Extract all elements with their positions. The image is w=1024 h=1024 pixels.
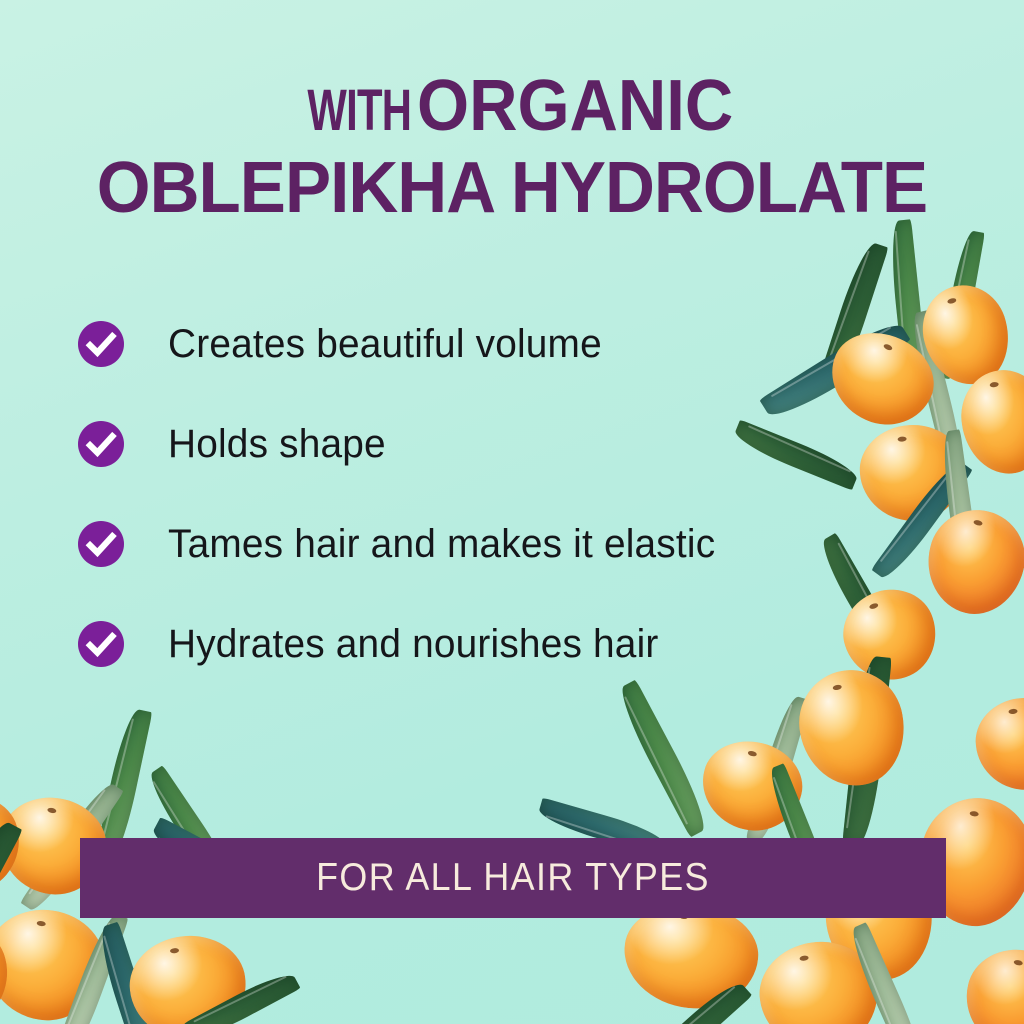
leaf-icon — [51, 911, 128, 1024]
list-item: Creates beautiful volume — [78, 294, 958, 394]
benefit-label: Hydrates and nourishes hair — [168, 622, 659, 667]
leaf-icon — [93, 922, 164, 1024]
berry-icon — [955, 365, 1024, 480]
leaf-icon — [613, 680, 713, 838]
benefit-label: Holds shape — [168, 422, 386, 467]
check-circle-icon — [78, 321, 124, 367]
headline-line-2: OBLEPIKHA HYDROLATE — [20, 154, 1003, 222]
berry-icon — [971, 693, 1024, 795]
banner-label: FOR ALL HAIR TYPES — [316, 856, 710, 900]
berry-icon — [0, 783, 31, 908]
page-title: WITH ORGANIC OBLEPIKHA HYDROLATE — [0, 72, 1024, 223]
benefits-list: Creates beautiful volume Holds shape Tam… — [78, 294, 958, 694]
check-circle-icon — [78, 621, 124, 667]
leaf-icon — [0, 816, 23, 998]
benefit-label: Tames hair and makes it elastic — [168, 522, 715, 567]
leaf-icon — [844, 922, 931, 1024]
berry-icon — [693, 731, 811, 841]
berry-icon — [125, 930, 251, 1024]
berry-icon — [753, 934, 885, 1024]
leaf-icon — [183, 967, 300, 1024]
list-item: Tames hair and makes it elastic — [78, 494, 958, 594]
leaf-icon — [746, 694, 810, 845]
list-item: Hydrates and nourishes hair — [78, 594, 958, 694]
check-circle-icon — [78, 421, 124, 467]
leaf-icon — [646, 976, 753, 1024]
headline-emphasis: ORGANIC — [417, 72, 733, 140]
headline-line-1: WITH ORGANIC — [0, 72, 1024, 140]
list-item: Holds shape — [78, 394, 958, 494]
check-circle-icon — [78, 521, 124, 567]
berry-icon — [0, 902, 111, 1024]
benefit-label: Creates beautiful volume — [168, 322, 602, 367]
for-all-hair-types-banner: FOR ALL HAIR TYPES — [80, 838, 946, 918]
berry-icon — [0, 912, 19, 1024]
berry-icon — [957, 940, 1024, 1024]
product-benefits-infographic: WITH ORGANIC OBLEPIKHA HYDROLATE Creates… — [0, 0, 1024, 1024]
headline-prefix: WITH — [307, 83, 411, 138]
